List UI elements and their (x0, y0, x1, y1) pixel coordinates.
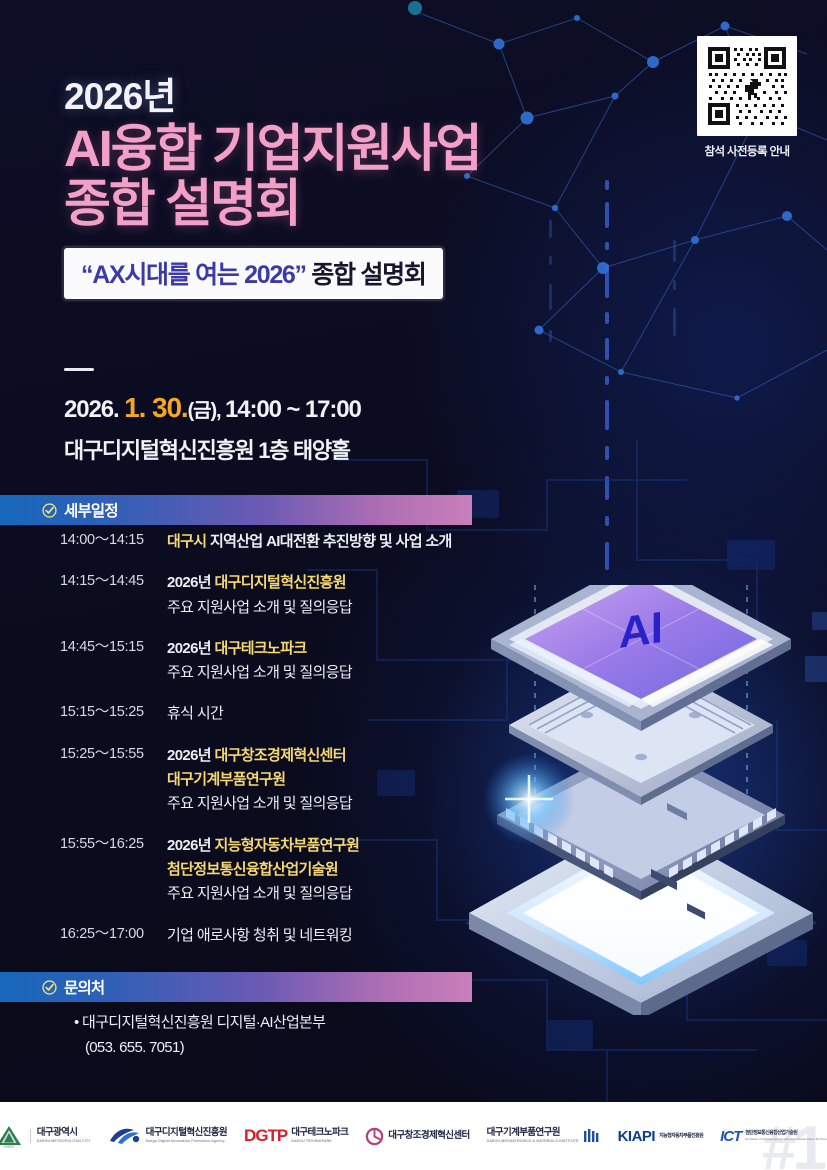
schedule-time: 15:15〜15:25 (60, 702, 167, 724)
schedule-list: 14:00〜14:15대구시 지역산업 AI대전환 추진방향 및 사업 소개14… (60, 530, 490, 948)
schedule-text: 2026년 (167, 640, 214, 657)
schedule-description: 휴식 시간 (167, 702, 490, 726)
logo-divider (30, 1129, 31, 1143)
schedule-org-highlight: 대구테크노파크 (214, 640, 306, 657)
poster-root: AI 2026년 AI융합 기업지원사업 종합 설명회 “AX시대를 여는 20… (0, 0, 827, 1170)
daegu-city-logo-icon: DAEGU (0, 1124, 24, 1148)
logo-dmi: 대구기계부품연구원 DAEGU MECHATRONICS & MATERIALS… (487, 1128, 601, 1144)
schedule-row: 14:00〜14:15대구시 지역산업 AI대전환 추진방향 및 사업 소개 (60, 530, 490, 554)
icict-wordmark: ICT (720, 1128, 741, 1145)
schedule-text: 기업 애로사항 청취 및 네트워킹 (167, 927, 352, 944)
logo-label-en: Institute of Convergence Info-Communicat… (745, 1138, 827, 1141)
schedule-line: 2026년 지능형자동차부품연구원 (167, 834, 490, 858)
schedule-time: 14:15〜14:45 (60, 571, 167, 593)
schedule-text: 주요 지원사업 소개 및 질의응답 (167, 885, 352, 902)
dip-logo-icon (108, 1125, 142, 1147)
check-circle-icon (42, 980, 57, 995)
section-header-schedule: 세부일정 (0, 495, 472, 525)
schedule-text: 주요 지원사업 소개 및 질의응답 (167, 599, 352, 616)
ccei-logo-icon (365, 1127, 384, 1146)
schedule-org-highlight: 지능형자동차부품연구원 (214, 837, 359, 854)
schedule-org-highlight: 대구창조경제혁신센터 (214, 747, 346, 764)
schedule-text: 2026년 (167, 574, 214, 591)
schedule-row: 15:15〜15:25휴식 시간 (60, 702, 490, 726)
footer-logo-bar: DAEGU 대구광역시 DAEGU METROPOLITAN CITY 대구디지… (0, 1102, 827, 1170)
date-accent: 1. 30. (124, 392, 187, 423)
qr-registration-block[interactable]: 참석 사전등록 안내 (697, 36, 797, 159)
schedule-row: 16:25〜17:00기업 애로사항 청취 및 네트워킹 (60, 924, 490, 948)
check-circle-icon (42, 503, 57, 518)
schedule-line: 2026년 대구테크노파크 (167, 637, 490, 661)
logo-dgtp: DGTP 대구테크노파크 DAEGU TECHNOPARK (244, 1126, 348, 1146)
schedule-org-highlight: 대구기계부품연구원 (167, 771, 285, 788)
schedule-line: 주요 지원사업 소개 및 질의응답 (167, 661, 490, 685)
schedule-org-highlight: 대구시 (167, 533, 206, 550)
svg-text:AI: AI (619, 603, 663, 658)
schedule-time: 15:25〜15:55 (60, 744, 167, 766)
date-time-range: 14:00 ~ 17:00 (225, 396, 361, 423)
schedule-description: 2026년 지능형자동차부품연구원첨단정보통신융합산업기술원주요 지원사업 소개… (167, 834, 490, 907)
logo-dip: 대구디지털혁신진흥원 Daegu Digital Innovation Prom… (108, 1125, 227, 1147)
poster-year: 2026년 (64, 78, 544, 117)
subtitle-quote: “AX시대를 여는 2026” (81, 261, 306, 289)
logo-label-ko: 첨단정보통신융합산업기술원 (745, 1131, 827, 1136)
schedule-line: 주요 지원사업 소개 및 질의응답 (167, 596, 490, 620)
schedule-text: 2026년 (167, 747, 214, 764)
logo-label-en: Daegu Digital Innovation Promotion Agenc… (146, 1140, 227, 1144)
schedule-description: 2026년 대구테크노파크주요 지원사업 소개 및 질의응답 (167, 637, 490, 686)
event-venue: 대구디지털혁신진흥원 1층 태양홀 (64, 433, 361, 465)
logo-label-en: DAEGU METROPOLITAN CITY (37, 1140, 91, 1144)
dmi-logo-icon (583, 1128, 601, 1144)
schedule-description: 2026년 대구디지털혁신진흥원주요 지원사업 소개 및 질의응답 (167, 571, 490, 620)
schedule-text: 주요 지원사업 소개 및 질의응답 (167, 664, 352, 681)
dgtp-wordmark: DGTP (244, 1126, 287, 1146)
date-prefix: 2026. (64, 396, 124, 423)
date-dayofweek: (금), (188, 400, 225, 422)
logo-label-ko: 대구기계부품연구원 (487, 1128, 579, 1138)
svg-text:DAEGU: DAEGU (3, 1145, 14, 1149)
poster-title: AI융합 기업지원사업 종합 설명회 (64, 121, 544, 232)
logo-daegu-city: DAEGU 대구광역시 DAEGU METROPOLITAN CITY (0, 1124, 91, 1148)
logo-label-ko: 대구디지털혁신진흥원 (146, 1128, 227, 1138)
logo-kiapi: KIAPI 지능형자동차부품진흥원 (618, 1128, 704, 1145)
schedule-text: 지역산업 AI대전환 추진방향 및 사업 소개 (206, 533, 451, 550)
schedule-time: 16:25〜17:00 (60, 924, 167, 946)
logo-label-ko: 대구광역시 (37, 1128, 91, 1138)
schedule-line: 기업 애로사항 청취 및 네트워킹 (167, 924, 490, 948)
schedule-line: 주요 지원사업 소개 및 질의응답 (167, 792, 490, 816)
schedule-line: 첨단정보통신융합산업기술원 (167, 858, 490, 882)
schedule-text: 주요 지원사업 소개 및 질의응답 (167, 795, 352, 812)
event-datetime: 2026. 1. 30.(금), 14:00 ~ 17:00 (64, 392, 361, 424)
schedule-row: 14:45〜15:152026년 대구테크노파크주요 지원사업 소개 및 질의응… (60, 637, 490, 686)
schedule-org-highlight: 첨단정보통신융합산업기술원 (167, 861, 338, 878)
logo-label-ko: 대구테크노파크 (291, 1128, 348, 1138)
schedule-line: 2026년 대구디지털혁신진흥원 (167, 571, 490, 595)
schedule-row: 15:55〜16:252026년 지능형자동차부품연구원첨단정보통신융합산업기술… (60, 834, 490, 907)
schedule-time: 14:00〜14:15 (60, 530, 167, 552)
schedule-org-highlight: 대구디지털혁신진흥원 (214, 574, 346, 591)
divider-rule (64, 368, 94, 371)
schedule-line: 2026년 대구창조경제혁신센터 (167, 744, 490, 768)
schedule-line: 주요 지원사업 소개 및 질의응답 (167, 882, 490, 906)
schedule-line: 대구시 지역산업 AI대전환 추진방향 및 사업 소개 (167, 530, 490, 554)
schedule-text: 휴식 시간 (167, 705, 223, 722)
logo-label-ko: 지능형자동차부품진흥원 (659, 1134, 703, 1139)
subtitle-banner: “AX시대를 여는 2026” 종합 설명회 (64, 248, 443, 299)
schedule-line: 휴식 시간 (167, 702, 490, 726)
logo-label-en: DAEGU MECHATRONICS & MATERIALS INSTITUTE (487, 1140, 579, 1144)
section-title-contact: 문의처 (64, 976, 104, 998)
schedule-description: 기업 애로사항 청취 및 네트워킹 (167, 924, 490, 948)
schedule-time: 14:45〜15:15 (60, 637, 167, 659)
kiapi-wordmark: KIAPI (618, 1128, 656, 1145)
logo-icict: ICT 첨단정보통신융합산업기술원 Institute of Convergen… (720, 1128, 827, 1145)
headline-block: 2026년 AI융합 기업지원사업 종합 설명회 “AX시대를 여는 2026”… (64, 78, 544, 299)
schedule-text: 2026년 (167, 837, 214, 854)
contact-org: • 대구디지털혁신진흥원 디지털·AI산업본부 (74, 1010, 325, 1035)
schedule-line: 대구기계부품연구원 (167, 768, 490, 792)
schedule-time: 15:55〜16:25 (60, 834, 167, 856)
qr-code-icon[interactable] (697, 36, 797, 136)
date-venue-block: 2026. 1. 30.(금), 14:00 ~ 17:00 대구디지털혁신진흥… (64, 392, 361, 465)
ai-chip-illustration: AI (455, 585, 827, 1015)
qr-caption: 참석 사전등록 안내 (697, 143, 797, 159)
subtitle-tail: 종합 설명회 (306, 261, 426, 289)
schedule-row: 15:25〜15:552026년 대구창조경제혁신센터대구기계부품연구원주요 지… (60, 744, 490, 817)
logo-label-ko: 대구창조경제혁신센터 (388, 1131, 469, 1141)
logo-label-en: DAEGU TECHNOPARK (291, 1140, 348, 1144)
schedule-description: 대구시 지역산업 AI대전환 추진방향 및 사업 소개 (167, 530, 490, 554)
logo-ccei: 대구창조경제혁신센터 (365, 1127, 469, 1146)
schedule-description: 2026년 대구창조경제혁신센터대구기계부품연구원주요 지원사업 소개 및 질의… (167, 744, 490, 817)
section-header-contact: 문의처 (0, 972, 472, 1002)
contact-block: • 대구디지털혁신진흥원 디지털·AI산업본부 (053. 655. 7051) (74, 1010, 325, 1060)
contact-phone: (053. 655. 7051) (74, 1035, 325, 1060)
schedule-row: 14:15〜14:452026년 대구디지털혁신진흥원주요 지원사업 소개 및 … (60, 571, 490, 620)
section-title-schedule: 세부일정 (64, 499, 118, 521)
